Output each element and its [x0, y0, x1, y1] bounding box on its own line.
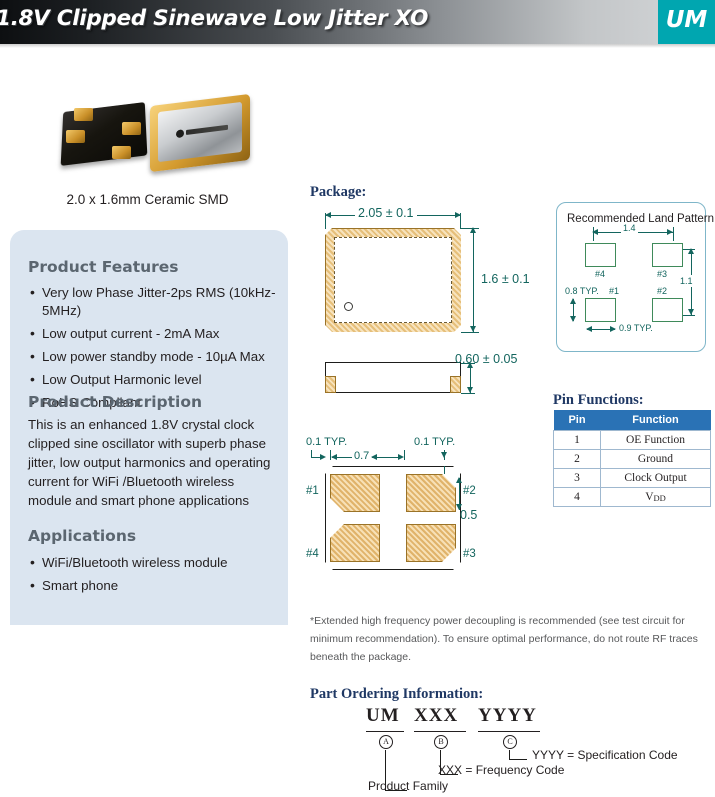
land-label-4: #4 — [595, 269, 605, 279]
land-dim-bottom: 0.9 TYP. — [619, 323, 653, 333]
page-title: 1.8V Clipped Sinewave Low Jitter XO — [0, 6, 428, 31]
cell-pin: 4 — [554, 488, 601, 507]
legend-product-family: Product Family — [368, 779, 448, 793]
cell-function-text: V — [645, 491, 653, 503]
brand-logo: UM — [658, 0, 715, 44]
marker-b-icon: B — [434, 735, 448, 749]
column-header-function: Function — [601, 410, 711, 431]
list-item: Low output current - 2mA Max — [28, 325, 280, 343]
dim-arrow-up-icon — [456, 477, 462, 483]
order-code-spec: YYYY — [478, 705, 537, 727]
pin-label-1: #1 — [306, 485, 319, 497]
cell-pin: 2 — [554, 450, 601, 469]
leader-line-c2 — [509, 759, 527, 760]
header-bar: 1.8V Clipped Sinewave Low Jitter XO UM — [0, 0, 715, 44]
land-pad-2 — [652, 298, 683, 322]
underline-b — [414, 731, 466, 732]
cell-function: Clock Output — [601, 469, 711, 488]
product-description-text: This is an enhanced 1.8V crystal clock c… — [28, 416, 280, 510]
land-pad-4 — [585, 243, 616, 267]
bottom-right-typ-dimension: 0.1 TYP. — [414, 436, 455, 448]
table-row: 2 Ground — [554, 450, 711, 469]
bottom-left-typ-dimension: 0.1 TYP. — [306, 436, 347, 448]
list-item: Low Output Harmonic level — [28, 371, 280, 389]
left-info-panel: Product Features Very low Phase Jitter-2… — [10, 230, 288, 625]
dim-arrow-left-icon — [371, 454, 377, 460]
lead-line-b — [311, 450, 312, 458]
order-code-frequency: XXX — [414, 705, 458, 727]
pin-functions-heading: Pin Functions: — [553, 392, 644, 409]
product-description-heading: Product Description — [28, 393, 202, 411]
pin-functions-table: Pin Function 1 OE Function 2 Ground 3 Cl… — [553, 410, 711, 507]
ceramic-package-photo — [58, 100, 150, 166]
package-side-view-drawing — [325, 362, 461, 393]
dim-arrow-down-icon — [441, 452, 447, 458]
pin-label-3: #3 — [463, 548, 476, 560]
dim-arrow-left-icon — [331, 454, 337, 460]
table-header-row: Pin Function — [554, 410, 711, 431]
table-row: 3 Clock Output — [554, 469, 711, 488]
legend-spec-code: YYYY = Specification Code — [532, 748, 678, 762]
ext-v4 — [444, 466, 445, 474]
cell-pin: 1 — [554, 431, 601, 450]
list-item: Very low Phase Jitter-2ps RMS (10kHz-5MH… — [28, 284, 280, 320]
package-top-view-drawing — [325, 228, 461, 332]
land-label-3: #3 — [657, 269, 667, 279]
land-pattern-title: Recommended Land Pattern: — [567, 213, 715, 225]
package-heading: Package: — [310, 184, 366, 201]
header-shadow — [0, 44, 715, 48]
marker-c-icon: C — [503, 735, 517, 749]
land-label-2: #2 — [657, 286, 667, 296]
land-dim-top: 1.4 — [621, 223, 638, 233]
ext-v2 — [404, 450, 405, 460]
ext-line-top — [461, 228, 479, 229]
land-dim-right: 1.1 — [680, 275, 693, 287]
legend-frequency-code: XXX = Frequency Code — [438, 763, 564, 777]
ext-line-left — [325, 213, 326, 229]
package-thickness-dimension: 0.60 ± 0.05 — [455, 352, 517, 366]
pin-label-4: #4 — [306, 548, 319, 560]
applications-list: WiFi/Bluetooth wireless module Smart pho… — [28, 554, 280, 600]
cell-function: Ground — [601, 450, 711, 469]
package-height-dimension: 1.6 ± 0.1 — [481, 272, 530, 286]
list-item: Smart phone — [28, 577, 280, 595]
cell-pin: 3 — [554, 469, 601, 488]
pad-width-dimension: 0.7 — [352, 450, 371, 462]
ext-line-bottom — [461, 332, 479, 333]
cell-function: OE Function — [601, 431, 711, 450]
underline-c — [478, 731, 540, 732]
photo-caption: 2.0 x 1.6mm Ceramic SMD — [0, 192, 295, 207]
land-pad-3 — [652, 243, 683, 267]
pin-one-marker-icon — [344, 302, 353, 311]
column-header-pin: Pin — [554, 410, 601, 431]
order-code-family: UM — [366, 705, 400, 727]
table-row: 4 VDD — [554, 488, 711, 507]
cell-function: VDD — [601, 488, 711, 507]
package-bottom-view-drawing — [325, 466, 461, 570]
table-row: 1 OE Function — [554, 431, 711, 450]
underline-a — [366, 731, 404, 732]
recommended-land-pattern-box: Recommended Land Pattern: #4 #3 #1 #2 1.… — [556, 202, 706, 352]
dim-line-height — [473, 228, 474, 332]
brand-logo-text: UM — [658, 7, 715, 33]
list-item: Low power standby mode - 10µA Max — [28, 348, 280, 366]
product-photo — [40, 88, 270, 183]
land-label-1: #1 — [609, 286, 619, 296]
metal-lid-package-photo — [150, 94, 255, 174]
part-ordering-diagram: UM XXX YYYY A B C YYYY = Specification C… — [310, 700, 710, 795]
applications-heading: Applications — [28, 527, 136, 545]
pad-gap-dimension: 0.5 — [460, 508, 477, 522]
cell-function-subscript: DD — [654, 493, 666, 503]
list-item: WiFi/Bluetooth wireless module — [28, 554, 280, 572]
pin-label-2: #2 — [463, 485, 476, 497]
package-width-dimension: 2.05 ± 0.1 — [355, 206, 417, 220]
dim-arrow-right-icon — [320, 454, 326, 460]
footnote-text: *Extended high frequency power decouplin… — [310, 612, 700, 666]
land-dim-left: 0.8 TYP. — [565, 286, 599, 296]
ext-line-bottom2 — [461, 393, 475, 394]
product-features-heading: Product Features — [28, 258, 179, 276]
marker-a-icon: A — [379, 735, 393, 749]
ext-line-right — [460, 213, 461, 229]
land-pad-1 — [585, 298, 616, 322]
